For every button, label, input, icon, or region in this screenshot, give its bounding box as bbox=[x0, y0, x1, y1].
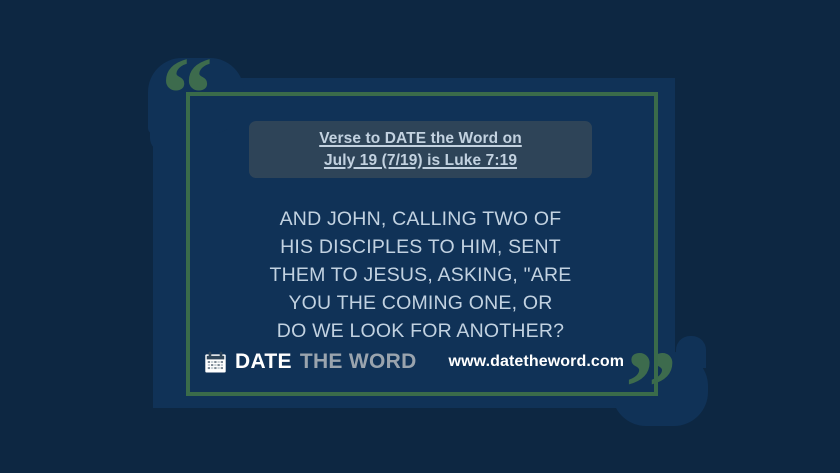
brand-name-secondary: THE WORD bbox=[300, 350, 417, 374]
verse-body-text: AND JOHN, CALLING TWO OF HIS DISCIPLES T… bbox=[203, 206, 638, 345]
footer-brand-row: DATE THE WORD www.datetheword.com bbox=[203, 345, 643, 379]
verse-title: Verse to DATE the Word on July 19 (7/19)… bbox=[319, 128, 522, 172]
website-url[interactable]: www.datetheword.com bbox=[449, 353, 625, 371]
frame-border-bottom bbox=[186, 392, 658, 396]
frame-border-top bbox=[186, 92, 658, 96]
frame-border-left bbox=[186, 92, 190, 396]
brand-name-primary: DATE bbox=[235, 350, 292, 374]
frame-border-right bbox=[654, 92, 658, 396]
quote-card-canvas: “ ” Verse to DATE the Word on July 19 (7… bbox=[0, 0, 840, 473]
title-panel: Verse to DATE the Word on July 19 (7/19)… bbox=[249, 121, 592, 178]
calendar-icon bbox=[203, 350, 228, 375]
bottom-right-speech-bubble-tail bbox=[676, 336, 706, 368]
